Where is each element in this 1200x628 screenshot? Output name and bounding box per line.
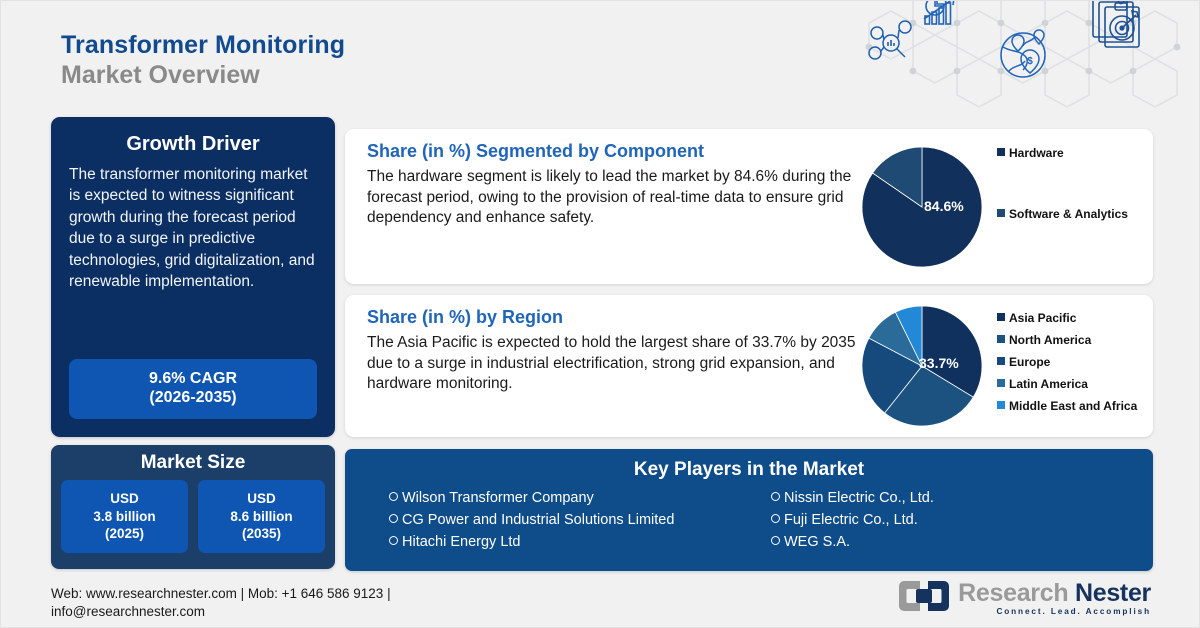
key-player-item: Hitachi Energy Ltd: [389, 531, 771, 553]
infographic-page: $ Transformer Monitoring Market Overview…: [0, 0, 1200, 628]
legend-label: Asia Pacific: [1009, 311, 1076, 326]
legend-label: Software & Analytics: [1009, 207, 1128, 222]
market-size-box-2025: USD 3.8 billion (2025): [61, 480, 188, 553]
key-player-name: Hitachi Energy Ltd: [402, 531, 520, 553]
pie-growth-chart-icon: [924, 0, 954, 24]
legend-item: Europe: [997, 355, 1137, 370]
bullet-circle-icon: [771, 536, 780, 545]
region-card-heading: Share (in %) by Region: [367, 307, 857, 328]
market-size-currency: USD: [198, 490, 325, 508]
legend-item: Middle East and Africa: [997, 399, 1137, 414]
growth-driver-title: Growth Driver: [69, 133, 317, 156]
bullet-circle-icon: [771, 514, 780, 523]
legend-swatch-icon: [997, 313, 1005, 321]
legend-swatch-icon: [997, 335, 1005, 343]
legend-swatch-icon: [997, 148, 1005, 156]
research-nester-logo: Research Nester Connect. Lead. Accomplis…: [898, 579, 1151, 618]
component-card-body: The hardware segment is likely to lead t…: [367, 167, 857, 229]
legend-label: Hardware: [1009, 146, 1064, 161]
svg-text:$: $: [1027, 56, 1033, 67]
key-player-name: CG Power and Industrial Solutions Limite…: [402, 509, 674, 531]
footer-contact-line1: Web: www.researchnester.com | Mob: +1 64…: [51, 585, 571, 603]
region-legend: Asia PacificNorth AmericaEuropeLatin Ame…: [983, 311, 1137, 421]
bullet-circle-icon: [389, 492, 398, 501]
legend-label: North America: [1009, 333, 1091, 348]
market-size-values: USD 3.8 billion (2025) USD 8.6 billion (…: [51, 480, 335, 553]
key-player-name: Wilson Transformer Company: [402, 487, 594, 509]
legend-swatch-icon: [997, 209, 1005, 217]
growth-driver-card: Growth Driver The transformer monitoring…: [51, 117, 335, 437]
market-size-card: Market Size USD 3.8 billion (2025) USD 8…: [51, 445, 335, 569]
key-player-name: Nissin Electric Co., Ltd.: [784, 487, 934, 509]
legend-swatch-icon: [997, 357, 1005, 365]
key-players-right-column: Nissin Electric Co., Ltd.Fuji Electric C…: [771, 487, 1153, 553]
logo-word-nester: Nester: [1075, 579, 1151, 607]
region-card-body: The Asia Pacific is expected to hold the…: [367, 333, 857, 395]
page-subtitle: Market Overview: [61, 61, 345, 89]
bullet-circle-icon: [771, 492, 780, 501]
legend-label: Europe: [1009, 355, 1050, 370]
legend-item: North America: [997, 333, 1137, 348]
bullet-circle-icon: [389, 536, 398, 545]
region-pie-chart: 33.7%: [861, 305, 983, 427]
legend-swatch-icon: [997, 401, 1005, 409]
report-target-icon: [1093, 0, 1139, 47]
cagr-value: 9.6% CAGR: [69, 369, 317, 389]
key-player-name: Fuji Electric Co., Ltd.: [784, 509, 918, 531]
growth-driver-body: The transformer monitoring market is exp…: [69, 164, 317, 292]
bullet-circle-icon: [389, 514, 398, 523]
key-player-name: WEG S.A.: [784, 531, 850, 553]
component-share-card: Share (in %) Segmented by Component The …: [345, 129, 1153, 284]
key-players-left-column: Wilson Transformer CompanyCG Power and I…: [389, 487, 771, 553]
legend-label: Middle East and Africa: [1009, 399, 1137, 414]
market-size-amount: 8.6 billion: [198, 508, 325, 526]
legend-label: Latin America: [1009, 377, 1088, 392]
footer-contact: Web: www.researchnester.com | Mob: +1 64…: [51, 585, 571, 621]
key-players-title: Key Players in the Market: [345, 449, 1153, 487]
region-share-card: Share (in %) by Region The Asia Pacific …: [345, 295, 1153, 437]
market-size-box-2035: USD 8.6 billion (2035): [198, 480, 325, 553]
key-player-item: Nissin Electric Co., Ltd.: [771, 487, 1153, 509]
market-size-year: (2025): [61, 525, 188, 543]
component-pie-chart: 84.6%: [861, 146, 983, 268]
key-player-item: CG Power and Industrial Solutions Limite…: [389, 509, 771, 531]
page-header: Transformer Monitoring Market Overview: [61, 31, 345, 89]
key-player-item: WEG S.A.: [771, 531, 1153, 553]
market-size-currency: USD: [61, 490, 188, 508]
logo-word-research: Research: [958, 579, 1068, 607]
legend-item: Hardware: [997, 146, 1128, 161]
legend-item: Latin America: [997, 377, 1137, 392]
component-card-heading: Share (in %) Segmented by Component: [367, 141, 857, 162]
market-size-year: (2035): [198, 525, 325, 543]
cagr-badge: 9.6% CAGR (2026-2035): [69, 359, 317, 419]
page-title: Transformer Monitoring: [61, 31, 345, 59]
component-legend: HardwareSoftware & Analytics: [983, 146, 1128, 268]
global-market-icon: $: [1001, 30, 1045, 77]
key-player-item: Fuji Electric Co., Ltd.: [771, 509, 1153, 531]
network-analysis-icon: [869, 21, 911, 59]
legend-item: Asia Pacific: [997, 311, 1137, 326]
key-player-item: Wilson Transformer Company: [389, 487, 771, 509]
footer-contact-line2: info@researchnester.com: [51, 603, 571, 621]
market-size-amount: 3.8 billion: [61, 508, 188, 526]
legend-item: Software & Analytics: [997, 207, 1128, 222]
legend-swatch-icon: [997, 379, 1005, 387]
logo-mark-icon: [898, 579, 950, 618]
cagr-period: (2026-2035): [69, 388, 317, 408]
market-size-title: Market Size: [51, 445, 335, 480]
logo-tagline: Connect. Lead. Accomplish: [958, 608, 1151, 616]
key-players-card: Key Players in the Market Wilson Transfo…: [345, 449, 1153, 571]
honeycomb-decoration: $: [829, 0, 1200, 118]
